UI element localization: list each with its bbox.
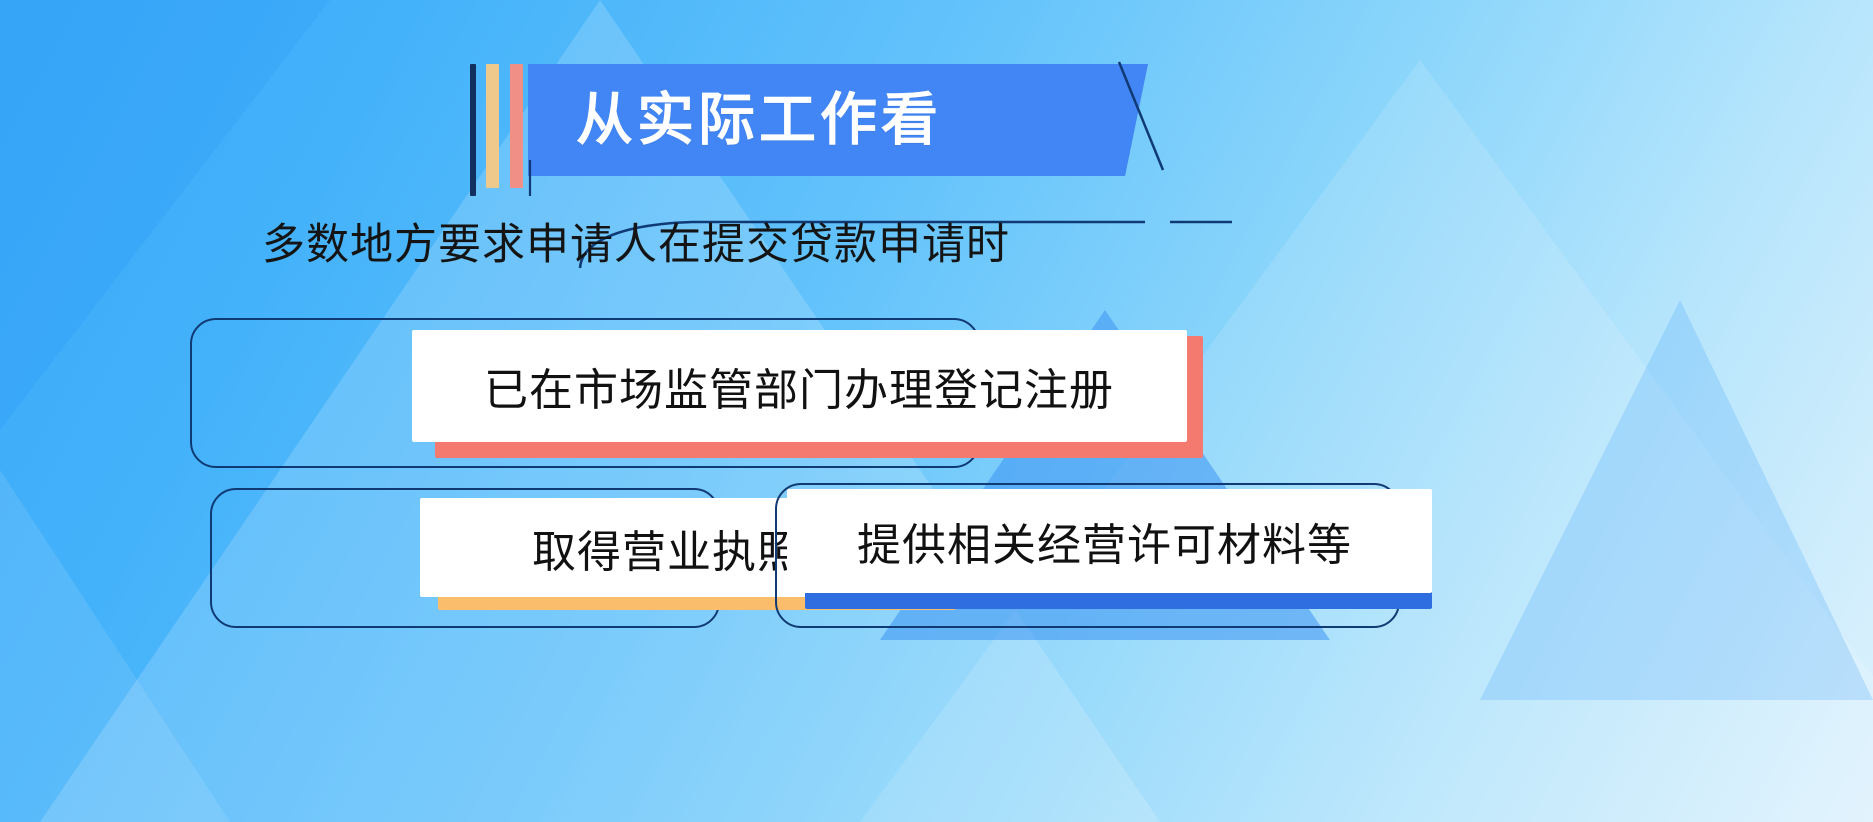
- card-accent-bottom: [805, 591, 1432, 609]
- card-registration[interactable]: 已在市场监管部门办理登记注册: [190, 318, 1030, 468]
- card-panel: 提供相关经营许可材料等: [787, 489, 1432, 593]
- card-panel: 已在市场监管部门办理登记注册: [412, 330, 1187, 442]
- triangle-blue-right: [1480, 300, 1873, 700]
- title-accent-bar-navy: [470, 64, 476, 196]
- card-label: 取得营业执照: [532, 516, 802, 580]
- page-title: 从实际工作看: [576, 92, 942, 149]
- card-label: 已在市场监管部门办理登记注册: [484, 354, 1114, 418]
- title-accent-bar-gold: [486, 64, 499, 188]
- title-diagonal-slash: [1115, 62, 1175, 174]
- slide-canvas: 从实际工作看 多数地方要求申请人在提交贷款申请时 已在市场监管部门办理登记注册: [0, 0, 1873, 822]
- card-label: 提供相关经营许可材料等: [857, 509, 1352, 573]
- card-business-license[interactable]: 取得营业执照: [210, 488, 770, 633]
- card-permit-materials[interactable]: 提供相关经营许可材料等: [775, 483, 1465, 633]
- subtitle-text: 多数地方要求申请人在提交贷款申请时: [262, 222, 1010, 269]
- triangle-wedge-bottomleft: [0, 470, 230, 822]
- title-block: 从实际工作看: [470, 62, 1190, 197]
